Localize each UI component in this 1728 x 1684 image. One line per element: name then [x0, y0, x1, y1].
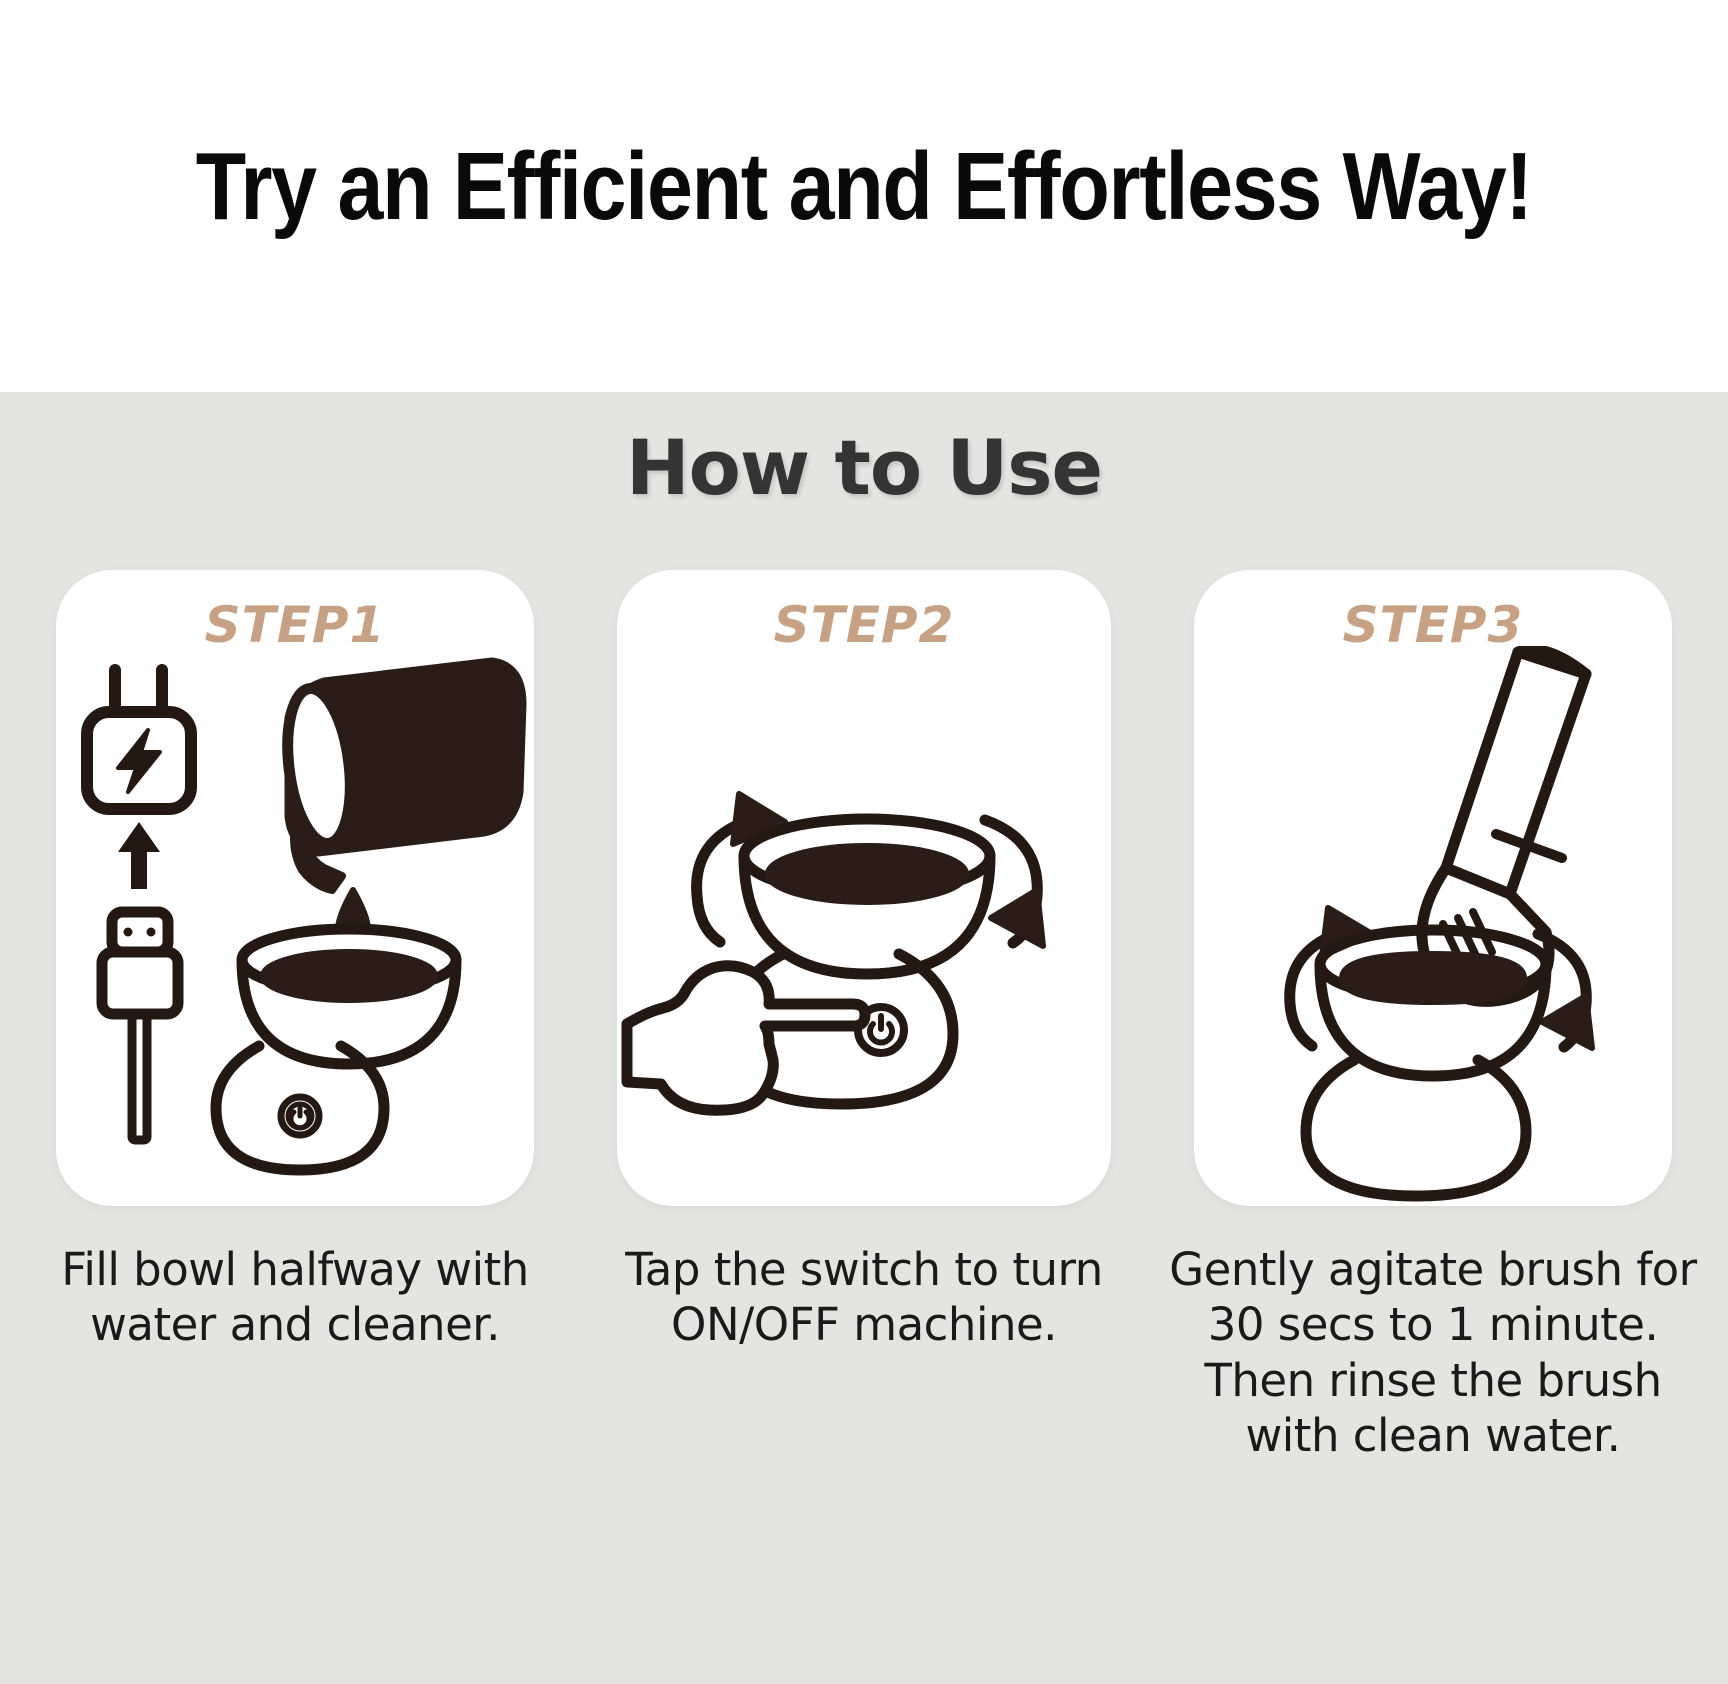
step-1-illustration [56, 646, 534, 1206]
power-button-icon [281, 1097, 319, 1135]
step-column-2: STEP2 [599, 570, 1129, 1353]
step-card-1[interactable]: STEP1 [56, 570, 534, 1206]
panel-title: How to Use [0, 430, 1728, 506]
steps-row: STEP1 [30, 570, 1698, 1463]
pointing-hand-icon [627, 966, 865, 1110]
step-card-2[interactable]: STEP2 [617, 570, 1111, 1206]
step-caption-2: Tap the switch to turn ON/OFF machine. [599, 1242, 1129, 1353]
step-column-3: STEP3 [1168, 570, 1698, 1463]
up-arrow-icon [118, 822, 160, 889]
step-column-1: STEP1 [30, 570, 560, 1353]
bowl-with-liquid-icon [242, 929, 456, 1064]
base-unit-icon [216, 1046, 384, 1170]
step-card-3[interactable]: STEP3 [1194, 570, 1672, 1206]
step-2-illustration [617, 646, 1111, 1206]
step-3-illustration [1194, 646, 1672, 1206]
page-title: Try an Efficient and Effortless Way! [196, 139, 1532, 253]
infographic-page: Try an Efficient and Effortless Way! How… [0, 0, 1728, 1684]
how-to-use-panel: How to Use STEP1 [0, 392, 1728, 1684]
pouring-cup-icon [280, 662, 522, 890]
step-caption-1: Fill bowl halfway with water and cleaner… [30, 1242, 560, 1353]
lightning-bolt-icon [118, 730, 160, 792]
usb-connector-icon [102, 912, 178, 1140]
step-caption-3: Gently agitate brush for 30 secs to 1 mi… [1153, 1242, 1713, 1463]
headline-band: Try an Efficient and Effortless Way! [0, 0, 1728, 392]
